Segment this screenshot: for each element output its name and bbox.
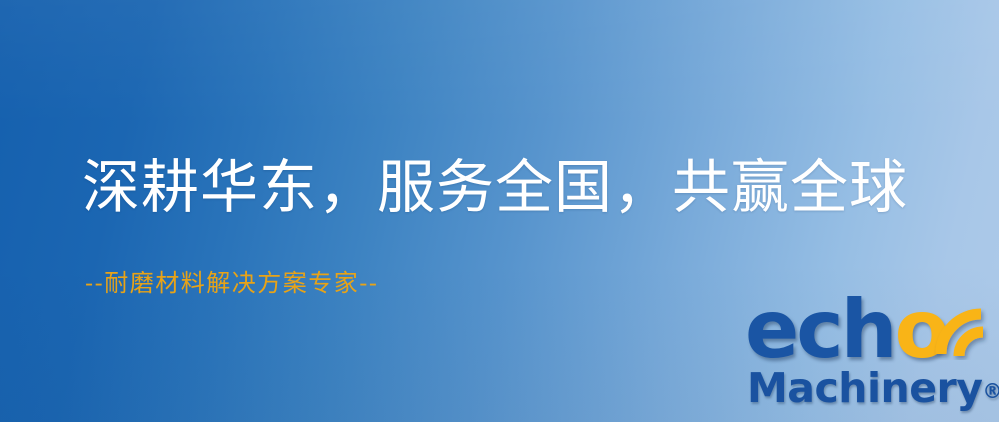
hero-banner: 深耕华东，服务全国，共赢全球 --耐磨材料解决方案专家-- echo Machi… <box>0 0 999 422</box>
banner-headline: 深耕华东，服务全国，共赢全球 <box>82 152 908 222</box>
echo-machinery-logo[interactable]: echo Machinery® <box>741 292 999 418</box>
registered-trademark-icon: ® <box>982 379 999 403</box>
logo-tagline-text: Machinery <box>747 364 982 412</box>
banner-subtitle: --耐磨材料解决方案专家-- <box>85 267 378 299</box>
signal-waves-icon <box>913 286 999 360</box>
logo-tagline: Machinery® <box>747 364 999 415</box>
logo-brand-ech: ech <box>745 283 895 376</box>
